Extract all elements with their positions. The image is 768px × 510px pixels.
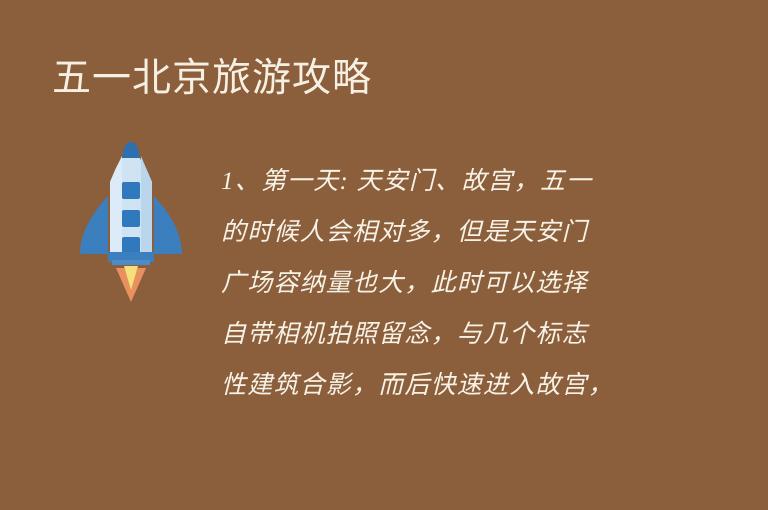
page-title: 五一北京旅游攻略 — [52, 56, 372, 102]
rocket-icon — [78, 142, 184, 302]
body-line: 1、第一天: 天安门、故宫，五一 — [221, 156, 653, 207]
body-line: 自带相机拍照留念，与几个标志 — [221, 309, 653, 360]
body-line: 的时候人会相对多，但是天安门 — [221, 207, 653, 258]
body-paragraph: 1、第一天: 天安门、故宫，五一 的时候人会相对多，但是天安门 广场容纳量也大，… — [221, 156, 653, 411]
body-line: 性建筑合影，而后快速进入故宫， — [221, 360, 653, 411]
body-line: 广场容纳量也大，此时可以选择 — [221, 258, 653, 309]
slide-canvas: 五一北京旅游攻略 1 — [0, 0, 768, 510]
